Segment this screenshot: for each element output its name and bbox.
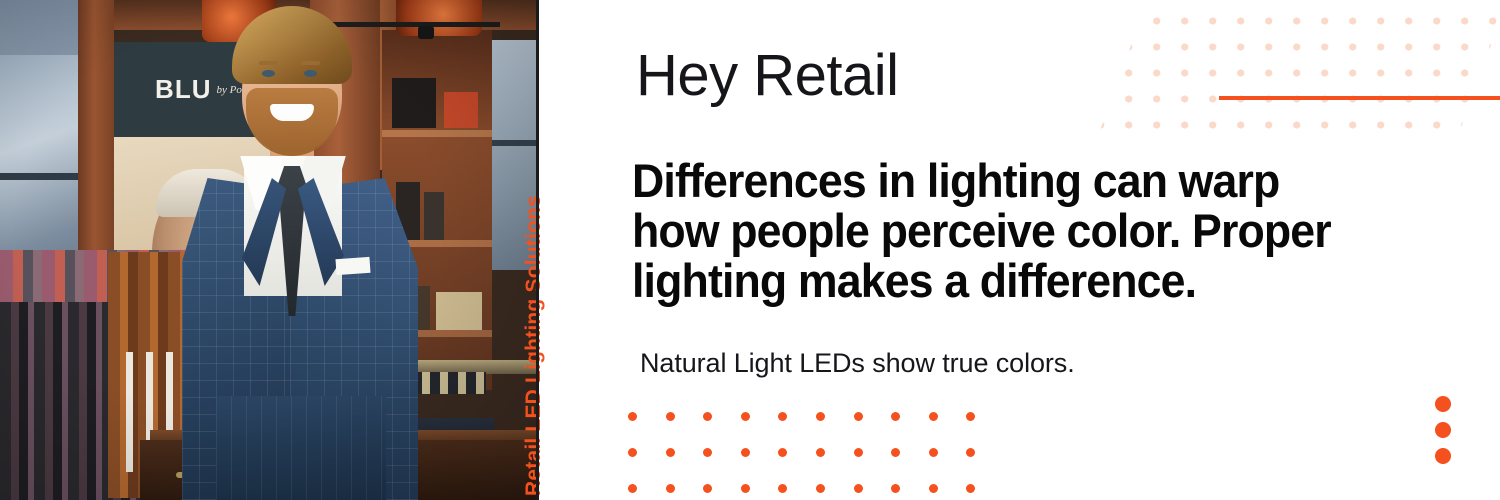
grid-dot: [778, 484, 787, 493]
accent-dot: [1435, 422, 1451, 438]
pale-dot-field: [1099, 0, 1500, 132]
grid-dot: [966, 484, 975, 493]
subheading: Natural Light LEDs show true colors.: [640, 348, 1075, 379]
photo-vignette: [0, 0, 538, 500]
orange-rule-divider: [1219, 96, 1500, 100]
grid-dot: [666, 412, 675, 421]
grid-dot: [666, 448, 675, 457]
photo-border-line: [536, 0, 539, 500]
grid-dot: [666, 484, 675, 493]
grid-dot: [741, 448, 750, 457]
grid-dot: [816, 484, 825, 493]
grid-dot: [703, 484, 712, 493]
grid-dot: [891, 484, 900, 493]
grid-dot: [854, 412, 863, 421]
page-title: Differences in lighting can warp how peo…: [632, 156, 1468, 305]
grid-dot: [628, 484, 637, 493]
grid-dot: [929, 412, 938, 421]
headline-line-3: lighting makes a difference.: [632, 256, 1468, 306]
grid-dot: [891, 412, 900, 421]
vertical-brand-label-text: Retail LED Lighting Solutions: [522, 195, 546, 496]
accent-dot: [1435, 448, 1451, 464]
grid-dot: [628, 448, 637, 457]
grid-dot: [741, 484, 750, 493]
grid-dot: [703, 412, 712, 421]
accent-dot: [1435, 396, 1451, 412]
grid-dot: [929, 484, 938, 493]
eyebrow-heading: Hey Retail: [636, 47, 899, 105]
headline-line-1: Differences in lighting can warp: [632, 156, 1468, 206]
grid-dot: [703, 448, 712, 457]
grid-dot: [778, 448, 787, 457]
grid-dot: [816, 412, 825, 421]
store-photo: BLU by Polifroni: [0, 0, 538, 500]
grid-dot: [966, 412, 975, 421]
vertical-brand-label: Retail LED Lighting Solutions: [540, 0, 574, 500]
content-panel: Hey Retail Differences in lighting can w…: [574, 0, 1500, 500]
grid-dot: [854, 448, 863, 457]
grid-dot: [816, 448, 825, 457]
grid-dot: [778, 412, 787, 421]
grid-dot: [854, 484, 863, 493]
pale-dot-field-pattern: [1099, 0, 1500, 132]
grid-dot: [628, 412, 637, 421]
grid-dot: [929, 448, 938, 457]
grid-dot: [741, 412, 750, 421]
retail-lighting-banner: BLU by Polifroni: [0, 0, 1500, 500]
headline-line-2: how people perceive color. Proper: [632, 206, 1468, 256]
orange-dot-grid: [628, 412, 1004, 500]
grid-dot: [891, 448, 900, 457]
grid-dot: [966, 448, 975, 457]
triple-dot-accent: [1435, 396, 1451, 464]
